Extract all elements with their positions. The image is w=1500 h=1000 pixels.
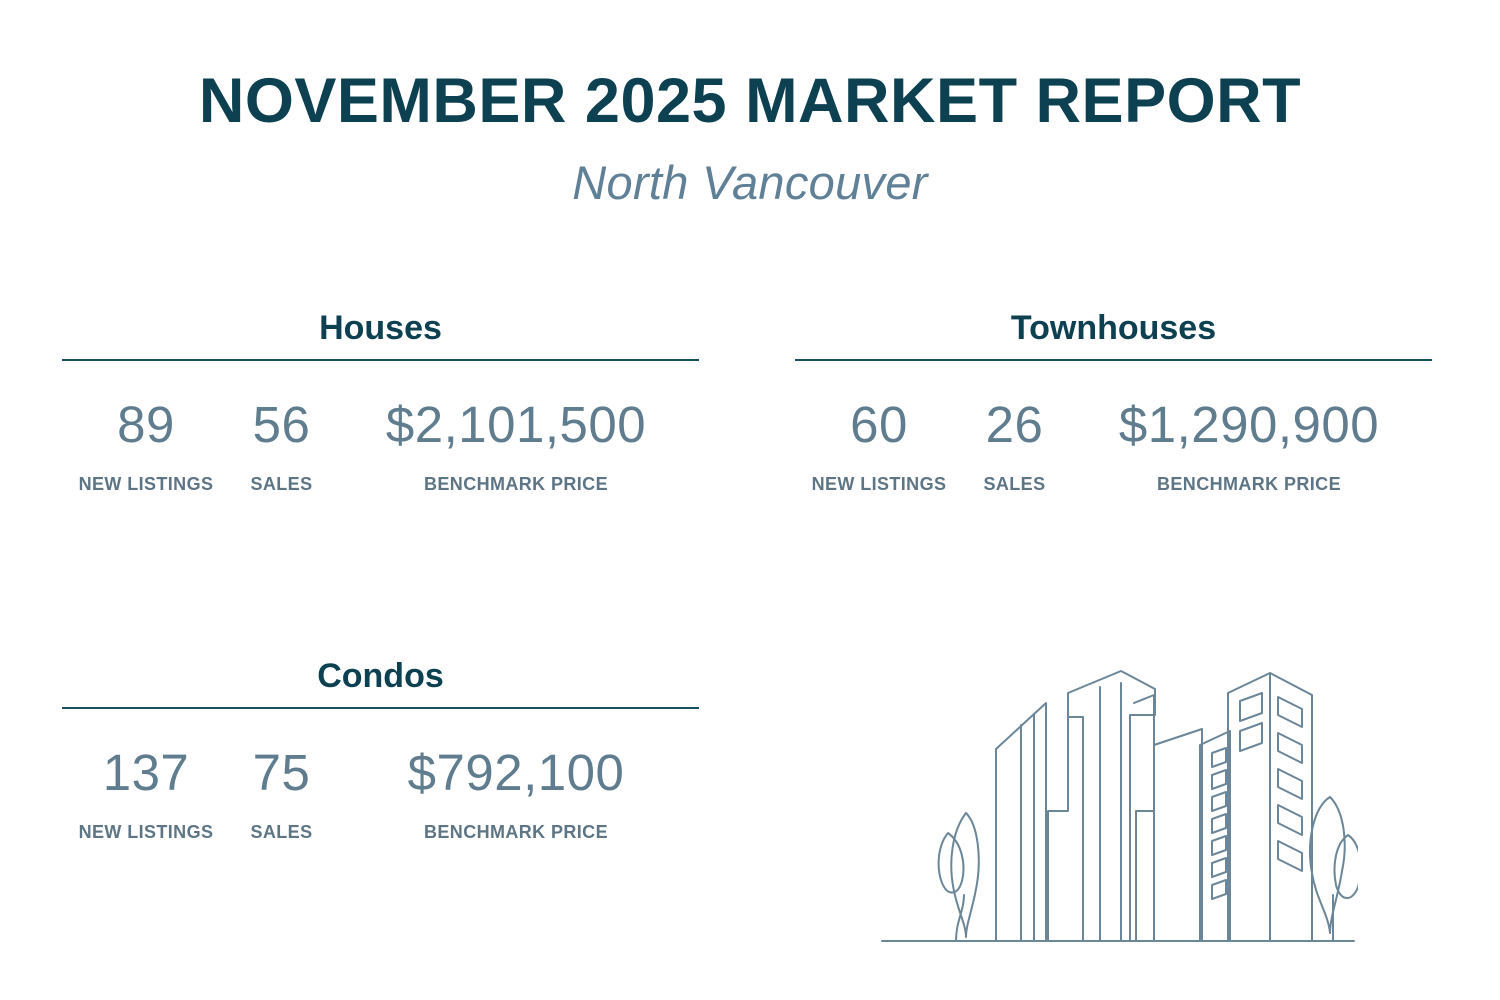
page-subtitle: North Vancouver (0, 158, 1500, 207)
stat-panel-houses: Houses 89 NEW LISTINGS 56 SALES $2,101,5… (62, 310, 699, 495)
panel-heading-houses: Houses (62, 310, 699, 359)
stat-value: 137 (62, 747, 230, 798)
panel-heading-townhouses: Townhouses (795, 310, 1432, 359)
city-skyline-icon (878, 645, 1358, 965)
stat-new-listings: 137 NEW LISTINGS (62, 747, 230, 843)
tree-left-outer-leaf (951, 813, 978, 937)
stat-value: 26 (963, 399, 1066, 450)
stat-new-listings: 89 NEW LISTINGS (62, 399, 230, 495)
building-1-edge (1021, 715, 1034, 941)
stat-value: $792,100 (333, 747, 699, 798)
tree-right-large-leaf (1310, 797, 1345, 933)
panel-heading-condos: Condos (62, 658, 699, 707)
stat-benchmark-price: $792,100 BENCHMARK PRICE (333, 747, 699, 843)
stat-row: 89 NEW LISTINGS 56 SALES $2,101,500 BENC… (62, 361, 699, 495)
stat-label: NEW LISTINGS (795, 474, 963, 495)
stat-benchmark-price: $2,101,500 BENCHMARK PRICE (333, 399, 699, 495)
stat-value: 89 (62, 399, 230, 450)
stat-sales: 56 SALES (230, 399, 333, 495)
building-5-windows-right (1278, 697, 1302, 871)
stat-value: $1,290,900 (1066, 399, 1432, 450)
building-2-inner-right (1100, 683, 1121, 941)
stat-value: 75 (230, 747, 333, 798)
page-title: NOVEMBER 2025 MARKET REPORT (0, 68, 1500, 134)
stat-panel-condos: Condos 137 NEW LISTINGS 75 SALES $792,10… (62, 658, 699, 843)
stat-value: 60 (795, 399, 963, 450)
building-3 (1136, 729, 1202, 941)
stat-sales: 75 SALES (230, 747, 333, 843)
stat-label: SALES (230, 822, 333, 843)
stat-row: 60 NEW LISTINGS 26 SALES $1,290,900 BENC… (795, 361, 1432, 495)
building-4-windows (1212, 748, 1226, 899)
building-2-inner-left (1068, 717, 1083, 941)
tree-right-small-leaf (1335, 835, 1359, 898)
stat-row: 137 NEW LISTINGS 75 SALES $792,100 BENCH… (62, 709, 699, 843)
building-2 (1048, 671, 1155, 941)
stat-benchmark-price: $1,290,900 BENCHMARK PRICE (1066, 399, 1432, 495)
stat-label: BENCHMARK PRICE (333, 822, 699, 843)
stat-label: BENCHMARK PRICE (1066, 474, 1432, 495)
stat-label: SALES (963, 474, 1066, 495)
stat-panel-townhouses: Townhouses 60 NEW LISTINGS 26 SALES $1,2… (795, 310, 1432, 495)
stat-new-listings: 60 NEW LISTINGS (795, 399, 963, 495)
stat-label: SALES (230, 474, 333, 495)
market-report-page: NOVEMBER 2025 MARKET REPORT North Vancou… (0, 0, 1500, 1000)
stat-value: $2,101,500 (333, 399, 699, 450)
stat-label: BENCHMARK PRICE (333, 474, 699, 495)
building-5-windows-left (1240, 693, 1262, 751)
report-header: NOVEMBER 2025 MARKET REPORT North Vancou… (0, 68, 1500, 207)
stat-label: NEW LISTINGS (62, 822, 230, 843)
stat-sales: 26 SALES (963, 399, 1066, 495)
stat-label: NEW LISTINGS (62, 474, 230, 495)
stat-value: 56 (230, 399, 333, 450)
